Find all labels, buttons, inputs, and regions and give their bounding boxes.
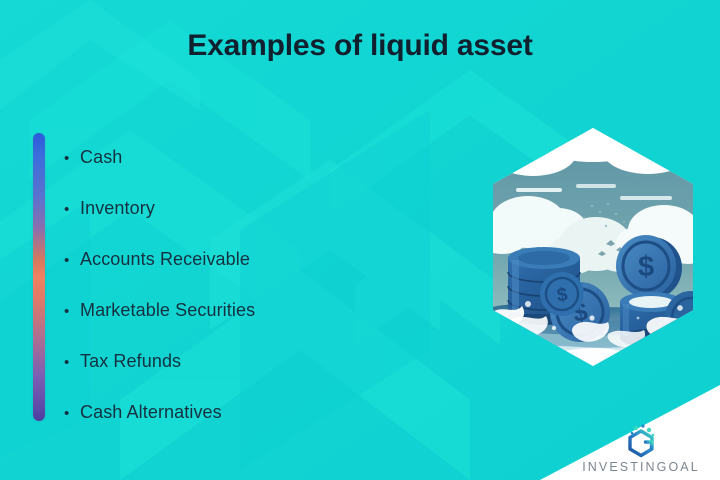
list-item: • Tax Refunds (64, 336, 444, 387)
bullet-point-icon: • (64, 133, 80, 184)
list-item: • Cash (64, 132, 444, 183)
investingoal-g-icon (623, 424, 659, 458)
gradient-accent-bar (33, 133, 45, 421)
infographic-canvas: Examples of liquid asset • Cash • Invent… (0, 0, 720, 480)
bullet-point-icon: • (64, 337, 80, 388)
list-item-label: Cash (80, 132, 122, 183)
list-item-label: Tax Refunds (80, 336, 181, 387)
list-item: • Accounts Receivable (64, 234, 444, 285)
page-title: Examples of liquid asset (0, 28, 720, 64)
list-item-label: Accounts Receivable (80, 234, 250, 285)
brand-wordmark: INVESTINGOAL (568, 460, 714, 474)
list-item: • Inventory (64, 183, 444, 234)
liquid-asset-list: • Cash • Inventory • Accounts Receivable… (64, 132, 444, 438)
bullet-point-icon: • (64, 388, 80, 439)
list-item-label: Inventory (80, 183, 155, 234)
coins-in-water-illustration: $ $ $ (488, 126, 698, 368)
list-item-label: Cash Alternatives (80, 387, 222, 438)
list-item: • Cash Alternatives (64, 387, 444, 438)
bullet-point-icon: • (64, 235, 80, 286)
bullet-point-icon: • (64, 286, 80, 337)
bullet-point-icon: • (64, 184, 80, 235)
list-item: • Marketable Securities (64, 285, 444, 336)
list-item-label: Marketable Securities (80, 285, 255, 336)
brand-logo[interactable]: INVESTINGOAL (568, 424, 714, 474)
svg-text:$: $ (638, 251, 654, 283)
